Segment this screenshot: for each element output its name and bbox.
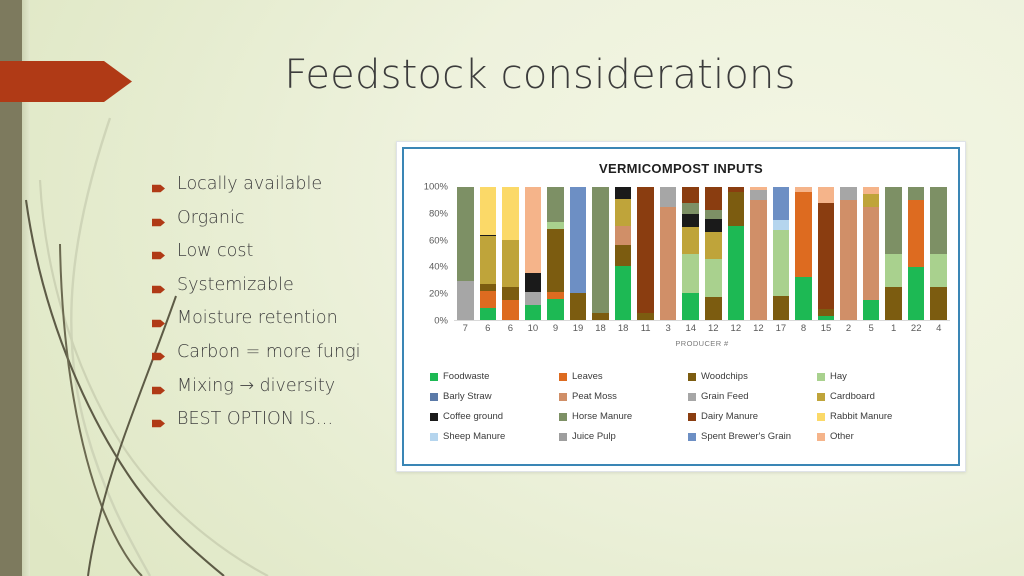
bar-segment[interactable] [795, 192, 812, 277]
bar-group[interactable] [634, 187, 657, 320]
arrow-bullet-icon [152, 247, 165, 256]
legend-item[interactable]: Leaves [559, 371, 686, 382]
arrow-bullet-icon [152, 348, 165, 357]
legend-label: Juice Pulp [572, 431, 616, 442]
legend-swatch-icon [817, 393, 825, 401]
stacked-bar[interactable] [682, 187, 699, 320]
arrow-bullet-icon [152, 415, 165, 424]
legend-label: Leaves [572, 371, 603, 382]
bar-group[interactable] [702, 187, 725, 320]
stacked-bar[interactable] [660, 187, 677, 320]
bar-segment[interactable] [682, 254, 699, 294]
bar-segment[interactable] [773, 220, 790, 229]
bar-segment[interactable] [705, 219, 722, 232]
x-axis-tick: 6 [477, 323, 500, 334]
bar-segment[interactable] [885, 254, 902, 287]
legend-item[interactable]: Hay [817, 371, 944, 382]
list-item: Systemizable [152, 269, 402, 303]
legend-item[interactable]: Rabbit Manure [817, 411, 944, 422]
legend-item[interactable]: Juice Pulp [559, 431, 686, 442]
bar-segment[interactable] [818, 309, 835, 316]
legend-label: Grain Feed [701, 391, 749, 402]
legend-item[interactable]: Spent Brewer's Grain [688, 431, 815, 442]
y-axis-tick: 0% [434, 316, 448, 327]
legend-label: Sheep Manure [443, 431, 505, 442]
bar-group[interactable] [477, 187, 500, 320]
bar-group[interactable] [882, 187, 905, 320]
x-axis-tick: 15 [815, 323, 838, 334]
list-item: Moisture retention [152, 302, 402, 336]
stacked-bar[interactable] [502, 187, 519, 320]
bar-segment[interactable] [773, 230, 790, 297]
legend-item[interactable]: Grain Feed [688, 391, 815, 402]
bar-segment[interactable] [840, 200, 857, 320]
bar-segment[interactable] [773, 187, 790, 220]
legend-label: Coffee ground [443, 411, 503, 422]
bar-segment[interactable] [637, 187, 654, 313]
bar-segment[interactable] [570, 187, 587, 293]
stacked-bar[interactable] [525, 187, 542, 320]
y-axis: 0%20%40%60%80%100% [412, 187, 452, 321]
bullet-list: Locally available Organic Low cost Syste… [152, 168, 402, 437]
bar-group[interactable] [725, 187, 748, 320]
legend-label: Barly Straw [443, 391, 492, 402]
bar-group[interactable] [837, 187, 860, 320]
legend-swatch-icon [559, 373, 567, 381]
bar-segment[interactable] [885, 287, 902, 320]
bar-segment[interactable] [615, 266, 632, 320]
bar-segment[interactable] [705, 259, 722, 298]
x-axis-tick: 10 [522, 323, 545, 334]
legend-item[interactable]: Other [817, 431, 944, 442]
legend-item[interactable]: Horse Manure [559, 411, 686, 422]
y-axis-tick: 80% [429, 208, 448, 219]
x-axis-tick: 12 [725, 323, 748, 334]
list-item: Mixing → diversity [152, 370, 402, 404]
bar-segment[interactable] [525, 305, 542, 320]
bar-segment[interactable] [480, 291, 497, 308]
bar-group[interactable] [792, 187, 815, 320]
stacked-bar[interactable] [637, 187, 654, 320]
bar-segment[interactable] [547, 292, 564, 299]
legend-swatch-icon [559, 393, 567, 401]
stacked-bar[interactable] [818, 187, 835, 320]
bar-segment[interactable] [615, 187, 632, 199]
title-arrow-banner-icon [0, 59, 132, 104]
x-axis: 7661091918181131412121217815251224 [454, 323, 950, 334]
bar-segment[interactable] [908, 267, 925, 320]
bar-segment[interactable] [705, 210, 722, 219]
legend-item[interactable]: Woodchips [688, 371, 815, 382]
arrow-bullet-icon [152, 315, 165, 324]
bar-segment[interactable] [908, 200, 925, 267]
stacked-bar[interactable] [615, 187, 632, 320]
bar-group[interactable] [860, 187, 883, 320]
y-axis-tick: 100% [424, 182, 448, 193]
bar-group[interactable] [679, 187, 702, 320]
list-item-label: Carbon = more fungi [177, 344, 360, 362]
legend-swatch-icon [817, 373, 825, 381]
legend-item[interactable]: Barly Straw [430, 391, 557, 402]
bar-segment[interactable] [930, 254, 947, 287]
x-axis-tick: 18 [612, 323, 635, 334]
bar-segment[interactable] [863, 194, 880, 207]
bar-segment[interactable] [502, 287, 519, 300]
legend-label: Peat Moss [572, 391, 617, 402]
bar-group[interactable] [905, 187, 928, 320]
bar-segment[interactable] [818, 316, 835, 320]
page-title: Feedstock considerations [160, 52, 920, 98]
x-axis-tick: 6 [499, 323, 522, 334]
legend-label: Foodwaste [443, 371, 489, 382]
legend-swatch-icon [688, 393, 696, 401]
legend-item[interactable]: Dairy Manure [688, 411, 815, 422]
bar-segment[interactable] [525, 273, 542, 292]
x-axis-tick: 19 [567, 323, 590, 334]
stacked-bar[interactable] [773, 187, 790, 320]
stacked-bar[interactable] [457, 187, 474, 320]
bar-segment[interactable] [615, 199, 632, 226]
x-axis-tick: 2 [837, 323, 860, 334]
x-axis-tick: 9 [544, 323, 567, 334]
bar-group[interactable] [612, 187, 635, 320]
bar-segment[interactable] [795, 277, 812, 320]
x-axis-tick: 22 [905, 323, 928, 334]
bar-group[interactable] [454, 187, 477, 320]
list-item-label: Locally available [177, 176, 322, 194]
chart-frame: VERMICOMPOST INPUTS 0%20%40%60%80%100% 7… [402, 147, 960, 466]
bar-segment[interactable] [705, 297, 722, 320]
legend-label: Horse Manure [572, 411, 632, 422]
list-item-label: Systemizable [177, 277, 294, 295]
bar-segment[interactable] [682, 227, 699, 254]
bar-segment[interactable] [502, 300, 519, 320]
bar-segment[interactable] [930, 187, 947, 254]
x-axis-tick: 18 [589, 323, 612, 334]
stacked-bar[interactable] [480, 187, 497, 320]
legend-swatch-icon [559, 413, 567, 421]
legend-swatch-icon [817, 433, 825, 441]
y-axis-tick: 40% [429, 262, 448, 273]
bar-group[interactable] [589, 187, 612, 320]
bar-segment[interactable] [525, 292, 542, 305]
legend-swatch-icon [430, 373, 438, 381]
stacked-bar[interactable] [930, 187, 947, 320]
bar-segment[interactable] [660, 187, 677, 207]
list-item-label: Organic [177, 210, 244, 228]
bar-segment[interactable] [728, 192, 745, 225]
bar-segment[interactable] [930, 287, 947, 320]
x-axis-tick: 12 [702, 323, 725, 334]
bar-group[interactable] [567, 187, 590, 320]
bar-segment[interactable] [728, 226, 745, 320]
chart-legend: FoodwasteLeavesWoodchipsHayBarly StrawPe… [430, 371, 944, 442]
bar-segment[interactable] [682, 187, 699, 203]
bar-group[interactable] [927, 187, 950, 320]
bar-segment[interactable] [773, 296, 790, 320]
bar-segment[interactable] [682, 203, 699, 214]
bar-segment[interactable] [885, 187, 902, 254]
chart-card: VERMICOMPOST INPUTS 0%20%40%60%80%100% 7… [396, 141, 966, 472]
list-item: Organic [152, 202, 402, 236]
x-axis-tick: 14 [679, 323, 702, 334]
bar-segment[interactable] [863, 300, 880, 320]
arrow-bullet-icon [152, 281, 165, 290]
plot-area: 0%20%40%60%80%100% 766109191818113141212… [412, 187, 952, 337]
legend-swatch-icon [817, 413, 825, 421]
bar-group[interactable] [522, 187, 545, 320]
bar-segment[interactable] [818, 203, 835, 309]
bar-segment[interactable] [457, 187, 474, 281]
legend-item[interactable]: Foodwaste [430, 371, 557, 382]
slide: Feedstock considerations Locally availab… [0, 0, 1024, 576]
stacked-bar[interactable] [705, 187, 722, 320]
bar-segment[interactable] [705, 187, 722, 210]
bar-segment[interactable] [547, 187, 564, 222]
list-item-label: Mixing → diversity [177, 378, 335, 396]
bar-group[interactable] [499, 187, 522, 320]
bar-segment[interactable] [457, 281, 474, 320]
arrow-bullet-icon [152, 180, 165, 189]
list-item-label: Moisture retention [177, 310, 338, 328]
x-axis-tick: 8 [792, 323, 815, 334]
x-axis-tick: 3 [657, 323, 680, 334]
legend-label: Cardboard [830, 391, 875, 402]
stacked-bar[interactable] [908, 187, 925, 320]
arrow-bullet-icon [152, 382, 165, 391]
bar-segment[interactable] [592, 313, 609, 320]
x-axis-tick: 4 [927, 323, 950, 334]
x-axis-tick: 17 [770, 323, 793, 334]
x-axis-tick: 5 [860, 323, 883, 334]
legend-swatch-icon [688, 413, 696, 421]
legend-swatch-icon [688, 373, 696, 381]
x-axis-tick: 12 [747, 323, 770, 334]
bar-segment[interactable] [615, 226, 632, 245]
stacked-bar[interactable] [885, 187, 902, 320]
bar-segment[interactable] [682, 293, 699, 320]
bar-segment[interactable] [637, 313, 654, 320]
bar-segment[interactable] [615, 245, 632, 265]
legend-swatch-icon [430, 433, 438, 441]
bar-segment[interactable] [547, 222, 564, 229]
list-item: BEST OPTION IS… [152, 403, 402, 437]
legend-item[interactable]: Sheep Manure [430, 431, 557, 442]
bar-group[interactable] [815, 187, 838, 320]
stacked-bar[interactable] [750, 187, 767, 320]
y-axis-tick: 20% [429, 289, 448, 300]
legend-label: Dairy Manure [701, 411, 758, 422]
legend-swatch-icon [688, 433, 696, 441]
stacked-bar[interactable] [547, 187, 564, 320]
bar-segment[interactable] [705, 232, 722, 259]
list-item: Carbon = more fungi [152, 336, 402, 370]
bar-segment[interactable] [750, 190, 767, 201]
x-axis-tick: 11 [634, 323, 657, 334]
legend-swatch-icon [430, 413, 438, 421]
legend-item[interactable]: Coffee ground [430, 411, 557, 422]
bar-group[interactable] [770, 187, 793, 320]
stacked-bar[interactable] [728, 187, 745, 320]
bar-segment[interactable] [682, 214, 699, 227]
bar-segment[interactable] [547, 299, 564, 320]
x-axis-title: PRODUCER # [454, 339, 950, 348]
bar-segment[interactable] [863, 207, 880, 300]
legend-swatch-icon [430, 393, 438, 401]
bar-segment[interactable] [840, 187, 857, 200]
chart-title: VERMICOMPOST INPUTS [404, 161, 958, 176]
bar-segment[interactable] [480, 308, 497, 320]
legend-label: Other [830, 431, 854, 442]
bar-segment[interactable] [818, 187, 835, 203]
bar-segment[interactable] [480, 236, 497, 284]
bar-segment[interactable] [660, 207, 677, 320]
arrow-bullet-icon [152, 214, 165, 223]
x-axis-tick: 7 [454, 323, 477, 334]
bar-group[interactable] [544, 187, 567, 320]
legend-item[interactable]: Cardboard [817, 391, 944, 402]
bar-segment[interactable] [570, 293, 587, 320]
bar-segment[interactable] [502, 187, 519, 240]
legend-label: Hay [830, 371, 847, 382]
legend-label: Rabbit Manure [830, 411, 892, 422]
list-item: Low cost [152, 235, 402, 269]
stacked-bar[interactable] [863, 187, 880, 320]
stacked-bar[interactable] [592, 187, 609, 320]
y-axis-tick: 60% [429, 235, 448, 246]
bar-segment[interactable] [863, 187, 880, 194]
bar-group[interactable] [657, 187, 680, 320]
bar-segment[interactable] [592, 187, 609, 313]
stacked-bar[interactable] [840, 187, 857, 320]
legend-item[interactable]: Peat Moss [559, 391, 686, 402]
bar-segment[interactable] [547, 229, 564, 292]
legend-label: Woodchips [701, 371, 748, 382]
bar-segment[interactable] [502, 240, 519, 287]
bar-segment[interactable] [525, 187, 542, 273]
legend-label: Spent Brewer's Grain [701, 431, 791, 442]
bar-segment[interactable] [750, 200, 767, 320]
stacked-bar[interactable] [795, 187, 812, 320]
bar-segment[interactable] [908, 187, 925, 200]
bar-segment[interactable] [480, 284, 497, 291]
bar-group[interactable] [747, 187, 770, 320]
x-axis-tick: 1 [882, 323, 905, 334]
list-item-label: BEST OPTION IS… [177, 411, 333, 429]
stacked-bar[interactable] [570, 187, 587, 320]
legend-swatch-icon [559, 433, 567, 441]
list-item-label: Low cost [177, 243, 253, 261]
bar-segment[interactable] [480, 187, 497, 235]
bars-container [454, 187, 950, 321]
list-item: Locally available [152, 168, 402, 202]
